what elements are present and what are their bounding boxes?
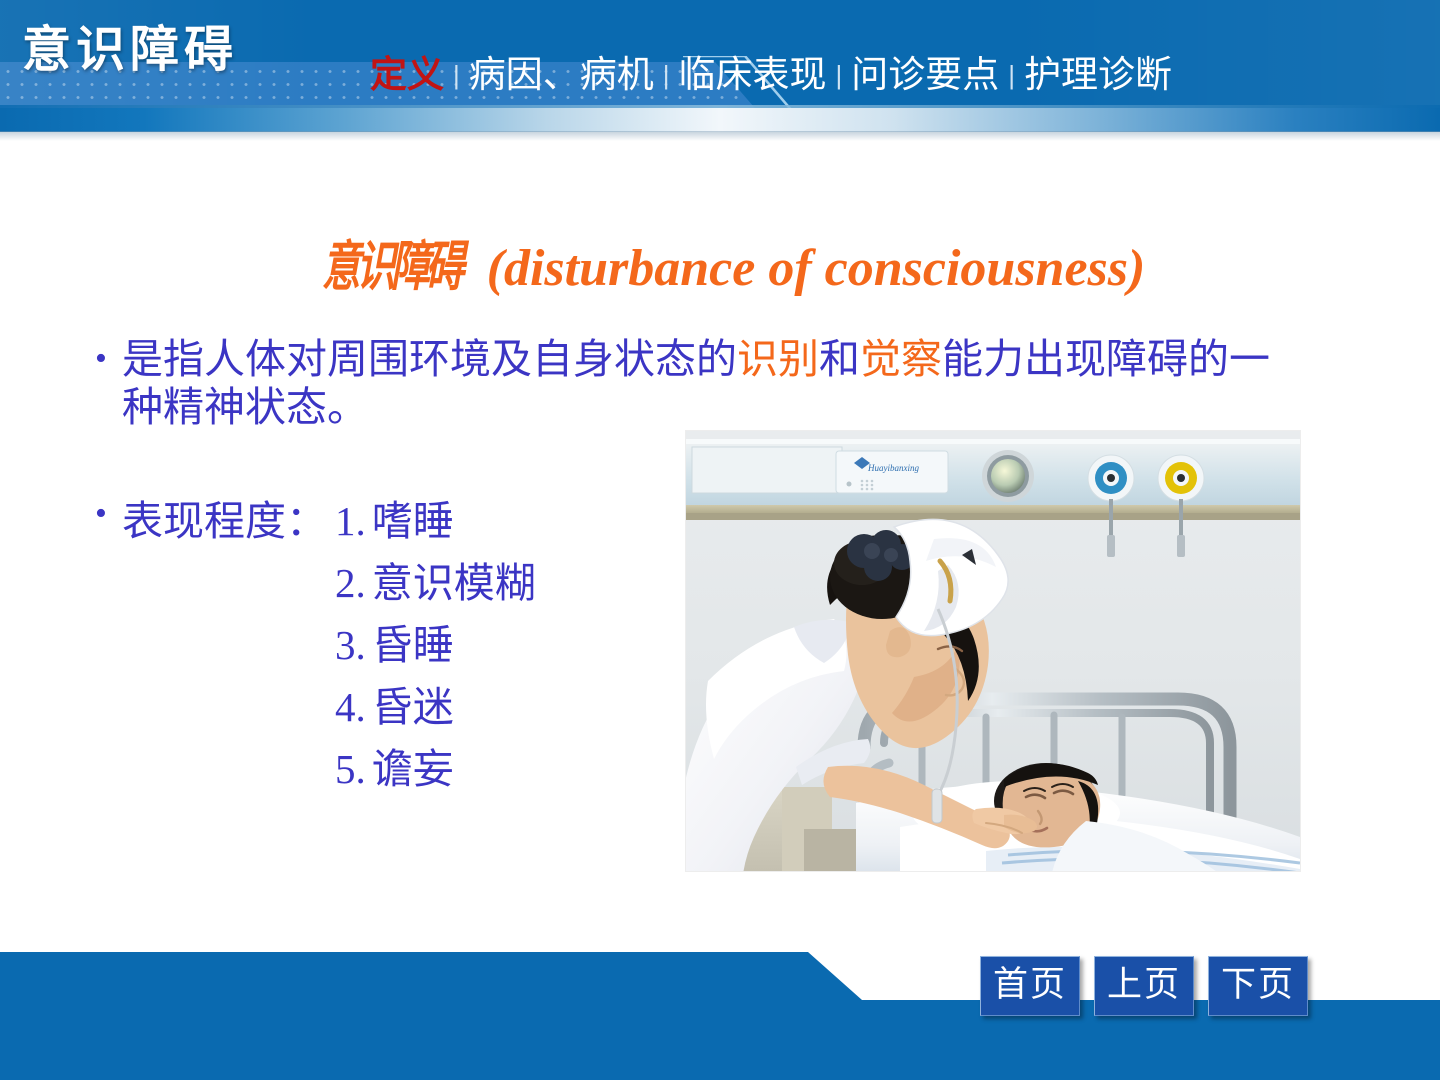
list-item: 1.嗜睡 [335,490,536,552]
next-page-button[interactable]: 下页 [1208,956,1308,1016]
footer-hairline [0,950,810,952]
clinical-photo: Huayibanxing [686,431,1300,871]
definition-text-part2: 和 [819,336,860,382]
tab-separator: | [829,52,850,98]
list-item-label: 意识模糊 [372,560,536,606]
header-chrome-shadow [0,131,1440,141]
definition-highlight-awareness: 觉察 [860,336,942,382]
tab-definition[interactable]: 定义 [368,52,446,98]
list-item-label: 昏迷 [372,684,454,730]
list-item-label: 谵妄 [372,746,454,792]
degrees-list: 1.嗜睡 2.意识模糊 3.昏睡 4.昏迷 5.谵妄 [335,490,536,800]
page-title-cn: 意识障碍 [322,222,460,301]
list-item-number: 5. [335,746,372,792]
list-item: 5.谵妄 [335,738,536,800]
tab-inquiry-points[interactable]: 问诊要点 [849,52,1001,98]
slide-header: 意识障碍 定义 | 病因、病机 | 临床表现 | 问诊要点 | 护理诊断 [0,0,1440,112]
tab-separator: | [446,52,467,98]
degrees-label: 表现程度： [122,490,335,552]
definition-paragraph: 是指人体对周围环境及自身状态的识别和觉察能力出现障碍的一种精神状态。 [122,335,1272,431]
page-title: 意识障碍(disturbance of consciousness) [0,222,1440,301]
tab-separator: | [656,52,677,98]
header-logo: 意识障碍 [22,22,238,78]
bullet-marker-icon: • [80,490,122,538]
list-item-number: 2. [335,560,372,606]
tab-etiology[interactable]: 病因、病机 [467,52,656,98]
definition-text-part1: 是指人体对周围环境及自身状态的 [122,336,737,382]
tab-nursing-diagnosis[interactable]: 护理诊断 [1022,52,1174,98]
bullet-degrees: • 表现程度： 1.嗜睡 2.意识模糊 3.昏睡 4.昏迷 5.谵妄 [80,490,536,800]
bullet-marker-icon: • [80,335,122,383]
header-tab-bar[interactable]: 定义 | 病因、病机 | 临床表现 | 问诊要点 | 护理诊断 [368,52,1174,101]
slide-canvas: 意识障碍 定义 | 病因、病机 | 临床表现 | 问诊要点 | 护理诊断 意识障… [0,0,1440,1080]
home-button[interactable]: 首页 [980,956,1080,1016]
list-item-label: 昏睡 [372,622,454,668]
list-item-number: 4. [335,684,372,730]
list-item-number: 1. [335,498,372,544]
list-item-label: 嗜睡 [372,498,454,544]
prev-page-button[interactable]: 上页 [1094,956,1194,1016]
tab-separator: | [1001,52,1022,98]
list-item: 4.昏迷 [335,676,536,738]
tab-clinical-manifestation[interactable]: 临床表现 [677,52,829,98]
list-item-number: 3. [335,622,372,668]
bullet-definition: • 是指人体对周围环境及自身状态的识别和觉察能力出现障碍的一种精神状态。 [80,335,1310,431]
definition-highlight-recognition: 识别 [737,336,819,382]
page-title-en: (disturbance of consciousness) [487,240,1146,297]
list-item: 3.昏睡 [335,614,536,676]
navigation-buttons[interactable]: 首页 上页 下页 [980,956,1308,1016]
header-chrome-strip [0,108,1440,132]
list-item: 2.意识模糊 [335,552,536,614]
degrees-group: 表现程度： 1.嗜睡 2.意识模糊 3.昏睡 4.昏迷 5.谵妄 [122,490,536,800]
photo-device-label: Huayibanxing [867,463,919,473]
